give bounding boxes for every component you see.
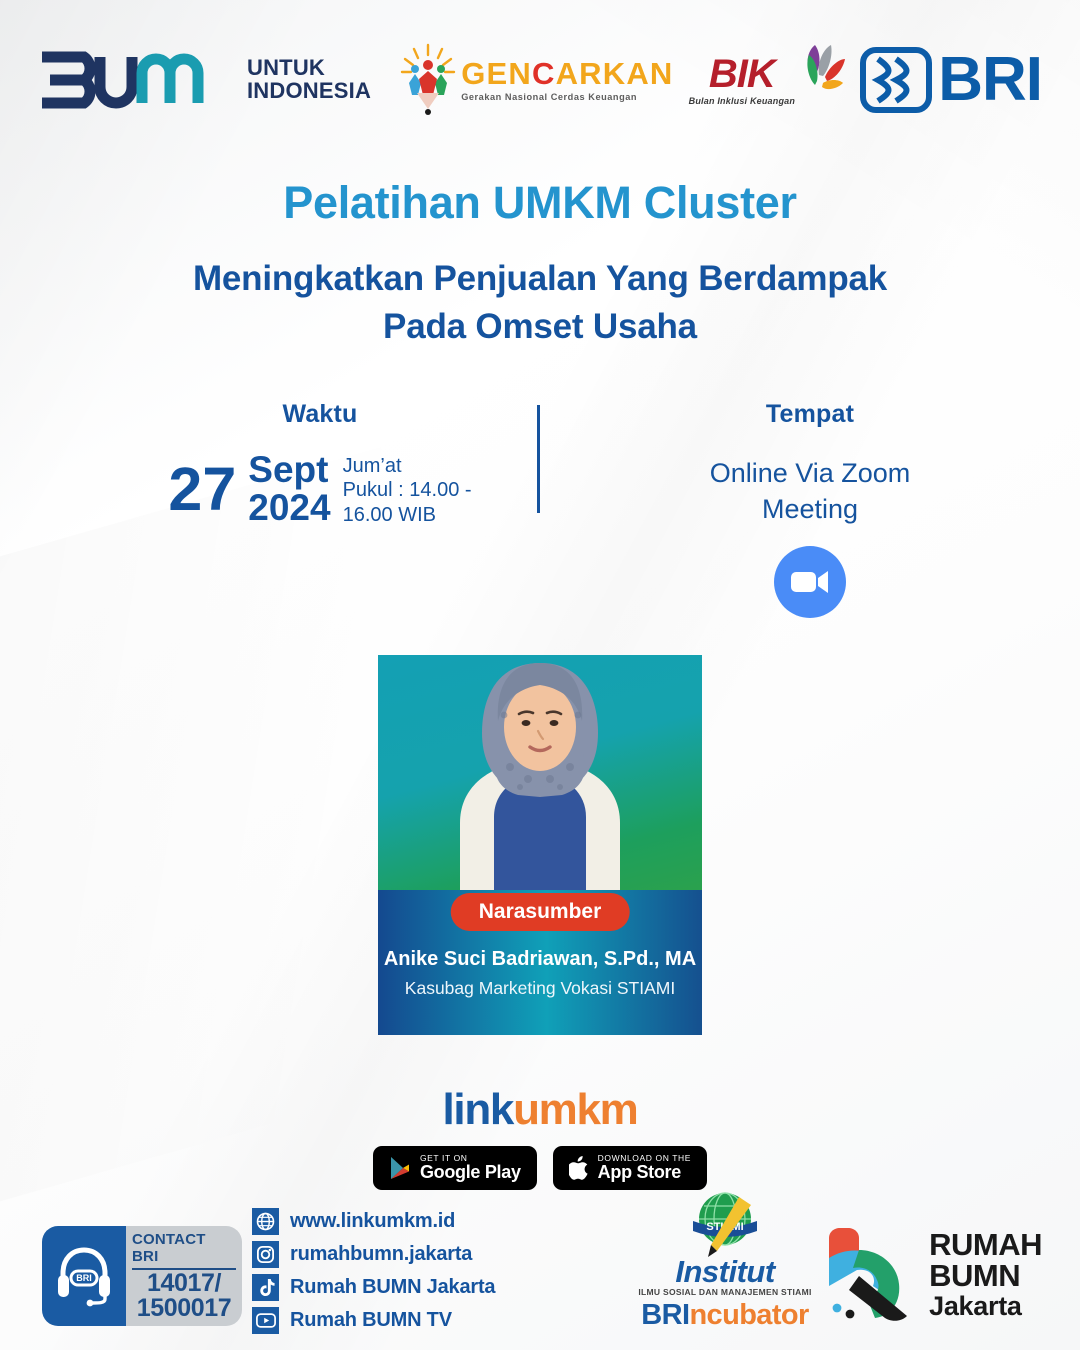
bumn-mark-icon bbox=[38, 51, 238, 109]
brincubator-rest: ncubator bbox=[689, 1299, 808, 1331]
poster-canvas: UNTUK INDONESIA bbox=[0, 0, 1080, 1350]
tiktok-icon bbox=[252, 1274, 279, 1301]
contact-bri-details: CONTACT BRI 14017/ 1500017 bbox=[126, 1226, 242, 1326]
schedule-heading: Waktu bbox=[90, 400, 550, 429]
speaker-role: Kasubag Marketing Vokasi STIAMI bbox=[378, 978, 702, 999]
footer: BRI CONTACT BRI 14017/ 1500017 bbox=[0, 1190, 1080, 1350]
contact-heading-bold: BRI bbox=[132, 1248, 158, 1265]
page-subtitle: Meningkatkan Penjualan Yang Berdampak Pa… bbox=[0, 255, 1080, 352]
event-weekday: Jum’at bbox=[343, 454, 472, 478]
gencarkan-word: GENCARKAN bbox=[461, 58, 673, 89]
social-link-instagram[interactable]: rumahbumn.jakarta bbox=[252, 1241, 495, 1268]
bumn-tagline: UNTUK INDONESIA bbox=[247, 57, 371, 103]
institut-wordmark: Institut bbox=[610, 1257, 840, 1286]
gencarkan-mark-icon bbox=[400, 43, 456, 117]
venue-column: Tempat Online Via Zoom Meeting bbox=[600, 400, 1020, 618]
bik-word: BIK bbox=[709, 55, 775, 93]
gencarkan-logo: GENCARKAN Gerakan Nasional Cerdas Keuang… bbox=[400, 43, 673, 117]
headset-glyph: BRI bbox=[55, 1245, 113, 1307]
rbj-line1: RUMAH bbox=[929, 1229, 1042, 1260]
status-badge: Narasumber bbox=[451, 893, 630, 931]
google-play-button[interactable]: GET IT ON Google Play bbox=[373, 1146, 537, 1190]
bik-logo: BIK Bulan Inklusi Keuangan bbox=[689, 55, 845, 106]
event-month-year: Sept 2024 bbox=[248, 451, 330, 526]
gencarkan-word-b: ARKAN bbox=[556, 56, 674, 91]
event-info-row: Waktu 27 Sept 2024 Jum’at Pukul : 14.00 … bbox=[0, 400, 1080, 620]
apple-icon bbox=[569, 1156, 589, 1180]
event-date: 27 Sept 2024 Jum’at Pukul : 14.00 - 16.0… bbox=[90, 451, 550, 527]
stiami-globe-glyph: STIAMI bbox=[677, 1191, 773, 1257]
linkumkm-logo-part2: umkm bbox=[513, 1085, 637, 1134]
event-day: 27 bbox=[168, 462, 236, 517]
google-play-icon bbox=[389, 1156, 411, 1180]
headset-bri-icon: BRI bbox=[42, 1226, 126, 1326]
event-month: Sept bbox=[248, 451, 330, 489]
event-year: 2024 bbox=[248, 489, 330, 527]
venue-line2: Meeting bbox=[600, 491, 1020, 527]
bumn-tagline-line1: UNTUK bbox=[247, 57, 371, 80]
gencarkan-word-c: C bbox=[532, 56, 556, 91]
page-subtitle-line1: Meningkatkan Penjualan Yang Berdampak bbox=[0, 255, 1080, 303]
bik-tagline: Bulan Inklusi Keuangan bbox=[689, 96, 795, 106]
app-store-button[interactable]: Download on the App Store bbox=[553, 1146, 707, 1190]
globe-icon bbox=[252, 1208, 279, 1235]
stiami-globe-icon: STIAMI bbox=[610, 1191, 840, 1257]
google-play-label: GET IT ON Google Play bbox=[420, 1154, 521, 1182]
tiktok-glyph bbox=[257, 1278, 275, 1297]
app-store-big: App Store bbox=[598, 1163, 691, 1182]
gencarkan-wordmark: GENCARKAN Gerakan Nasional Cerdas Keuang… bbox=[461, 58, 673, 102]
speaker-card: Narasumber Anike Suci Badriawan, S.Pd., … bbox=[378, 655, 702, 1035]
gencarkan-word-a: GEN bbox=[461, 56, 532, 91]
rumah-bumn-jakarta-icon bbox=[819, 1224, 917, 1324]
bik-wordmark: BIK Bulan Inklusi Keuangan bbox=[689, 55, 795, 106]
zoom-video-icon bbox=[774, 546, 846, 618]
event-time: Jum’at Pukul : 14.00 - 16.00 WIB bbox=[343, 451, 472, 527]
rumah-bumn-jakarta-logo: RUMAH BUMN Jakarta bbox=[819, 1224, 1042, 1324]
social-links: www.linkumkm.id rumahbumn.jakarta bbox=[252, 1208, 495, 1334]
bumn-logo: UNTUK INDONESIA bbox=[38, 51, 371, 109]
page-subtitle-line2: Pada Omset Usaha bbox=[0, 303, 1080, 351]
gencarkan-tagline: Gerakan Nasional Cerdas Keuangan bbox=[461, 92, 637, 102]
svg-text:BRI: BRI bbox=[76, 1273, 92, 1283]
contact-number-line1: 14017/ bbox=[147, 1271, 221, 1297]
bumn-tagline-line2: INDONESIA bbox=[247, 80, 371, 103]
social-label-website: www.linkumkm.id bbox=[290, 1210, 455, 1233]
google-play-big: Google Play bbox=[420, 1163, 521, 1182]
rbj-line2: BUMN bbox=[929, 1260, 1042, 1291]
social-link-tiktok[interactable]: Rumah BUMN Jakarta bbox=[252, 1274, 495, 1301]
app-store-badges: GET IT ON Google Play Download on the Ap… bbox=[0, 1146, 1080, 1190]
bri-wordmark: BRI bbox=[938, 49, 1042, 111]
app-store-label: Download on the App Store bbox=[598, 1154, 691, 1182]
contact-heading-prefix: CONTACT bbox=[132, 1231, 206, 1248]
linkumkm-logo-part1: link bbox=[442, 1085, 513, 1134]
instagram-glyph bbox=[256, 1245, 275, 1264]
contact-bri-card: BRI CONTACT BRI 14017/ 1500017 bbox=[42, 1226, 242, 1326]
rbj-line3: Jakarta bbox=[929, 1293, 1042, 1320]
page-title: Pelatihan UMKM Cluster bbox=[0, 177, 1080, 229]
event-time-line2: 16.00 WIB bbox=[343, 503, 472, 527]
contact-bri-heading: CONTACT BRI bbox=[132, 1231, 236, 1265]
globe-glyph bbox=[256, 1212, 275, 1231]
bri-mark-icon bbox=[860, 47, 932, 113]
social-label-instagram: rumahbumn.jakarta bbox=[290, 1243, 472, 1266]
brincubator-bri: BRI bbox=[641, 1299, 689, 1331]
stiami-brincubator-logo: STIAMI Institut ILMU SOSIAL DAN MANAJEME… bbox=[610, 1191, 840, 1330]
venue-line1: Online Via Zoom bbox=[600, 455, 1020, 491]
linkumkm-section: linkumkm GET IT ON Google Play bbox=[0, 1088, 1080, 1190]
speaker-name: Anike Suci Badriawan, S.Pd., MA bbox=[378, 948, 702, 971]
institut-tagline: ILMU SOSIAL DAN MANAJEMEN STIAMI bbox=[610, 1287, 840, 1297]
bri-logo: BRI bbox=[860, 47, 1042, 113]
venue-text: Online Via Zoom Meeting bbox=[600, 455, 1020, 528]
instagram-icon bbox=[252, 1241, 279, 1268]
contact-number-line2: 1500017 bbox=[137, 1296, 232, 1322]
brincubator-wordmark: BRIncubator bbox=[610, 1301, 840, 1330]
partner-logo-bar: UNTUK INDONESIA bbox=[0, 30, 1080, 130]
event-time-line1: Pukul : 14.00 - bbox=[343, 478, 472, 502]
social-link-youtube[interactable]: Rumah BUMN TV bbox=[252, 1307, 495, 1334]
section-divider bbox=[537, 405, 540, 513]
linkumkm-logo: linkumkm bbox=[0, 1088, 1080, 1132]
social-label-youtube: Rumah BUMN TV bbox=[290, 1309, 452, 1332]
social-label-tiktok: Rumah BUMN Jakarta bbox=[290, 1276, 495, 1299]
schedule-column: Waktu 27 Sept 2024 Jum’at Pukul : 14.00 … bbox=[90, 400, 550, 527]
rumah-bumn-jakarta-wordmark: RUMAH BUMN Jakarta bbox=[929, 1229, 1042, 1320]
youtube-glyph bbox=[256, 1313, 276, 1328]
venue-heading: Tempat bbox=[600, 400, 1020, 429]
zoom-camera-glyph bbox=[790, 569, 830, 595]
bik-leaves-icon bbox=[797, 41, 845, 103]
youtube-icon bbox=[252, 1307, 279, 1334]
social-link-website[interactable]: www.linkumkm.id bbox=[252, 1208, 495, 1235]
